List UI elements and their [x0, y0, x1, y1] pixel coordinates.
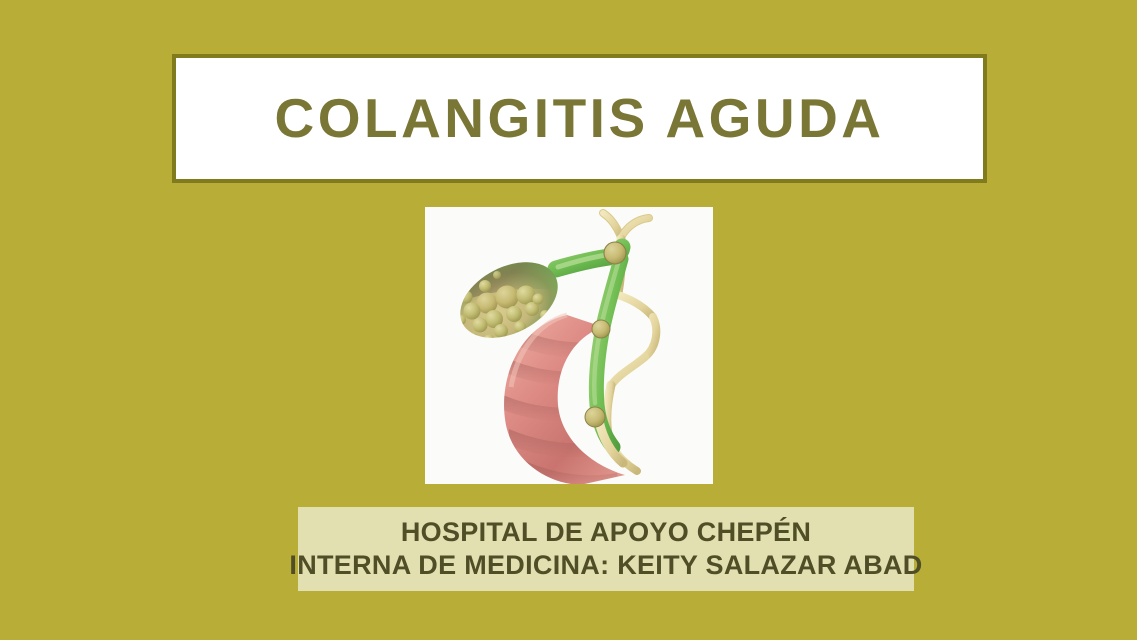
- subtitle-line-author: INTERNA DE MEDICINA: KEITY SALAZAR ABAD: [289, 549, 922, 582]
- page-title: COLANGITIS AGUDA: [274, 91, 884, 146]
- subtitle-box: HOSPITAL DE APOYO CHEPÉN INTERNA DE MEDI…: [298, 507, 914, 591]
- gallbladder-biliary-tree-duodenum-icon: [425, 207, 713, 484]
- presentation-slide: COLANGITIS AGUDA: [0, 0, 1137, 640]
- subtitle-line-hospital: HOSPITAL DE APOYO CHEPÉN: [401, 516, 811, 549]
- illustration-panel: [425, 207, 713, 484]
- title-box: COLANGITIS AGUDA: [172, 54, 987, 183]
